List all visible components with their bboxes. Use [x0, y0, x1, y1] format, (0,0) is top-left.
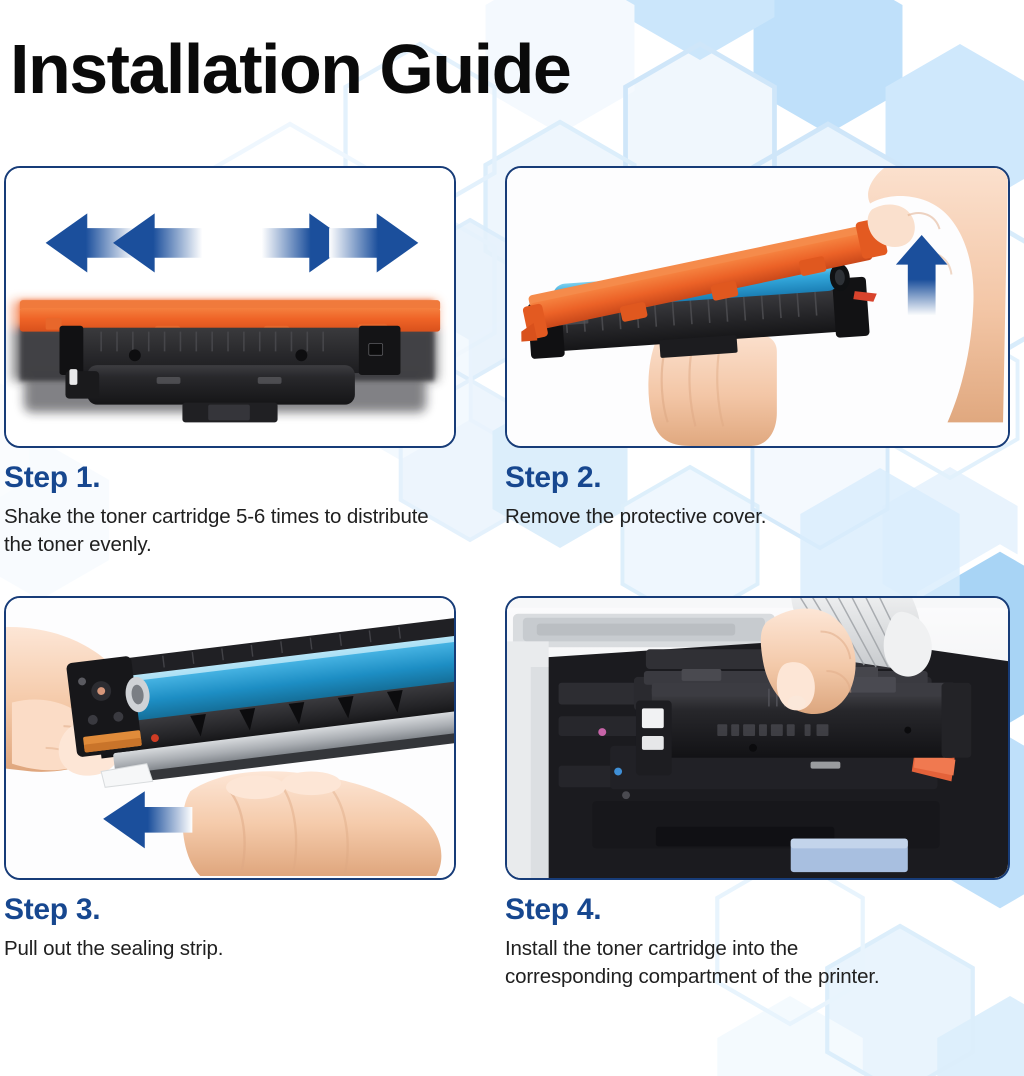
illustration-shake-cartridge [6, 168, 454, 446]
illustration-pull-sealing-strip [6, 598, 454, 878]
step-1-description: Shake the toner cartridge 5-6 times to d… [4, 503, 454, 560]
step-3-description: Pull out the sealing strip. [4, 935, 454, 963]
step-2-description: Remove the protective cover. [505, 503, 925, 531]
step-4-heading: Step 4. [505, 894, 1010, 926]
step-4-description: Install the toner cartridge into the cor… [505, 935, 925, 992]
step-3-image-panel [4, 596, 456, 880]
step-4-image-panel [505, 596, 1010, 880]
step-block-3: Step 3. Pull out the sealing strip. [4, 596, 456, 963]
step-1-image-panel [4, 166, 456, 448]
illustration-install-cartridge-into-printer [507, 598, 1008, 878]
step-block-1: Step 1. Shake the toner cartridge 5-6 ti… [4, 166, 456, 559]
illustration-remove-protective-cover [507, 168, 1008, 446]
step-3-heading: Step 3. [4, 894, 456, 926]
step-block-4: Step 4. Install the toner cartridge into… [505, 596, 1010, 991]
step-block-2: Step 2. Remove the protective cover. [505, 166, 1010, 531]
step-2-image-panel [505, 166, 1010, 448]
step-2-heading: Step 2. [505, 462, 1010, 494]
page-title: Installation Guide [10, 34, 570, 104]
step-1-heading: Step 1. [4, 462, 456, 494]
